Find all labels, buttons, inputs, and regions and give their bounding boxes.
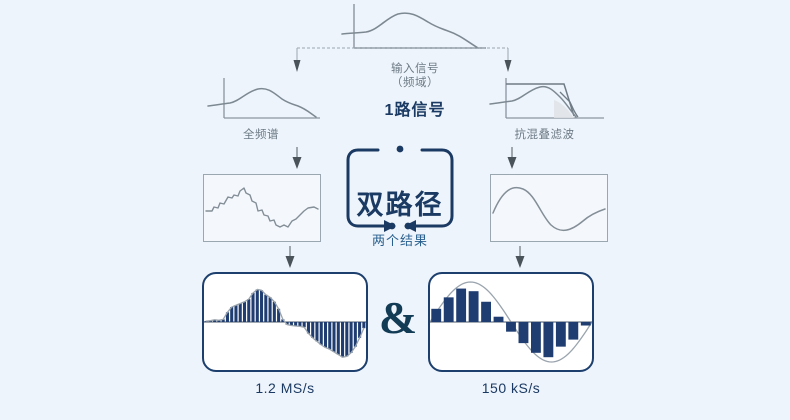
arrow-right-to-panel (512, 246, 528, 270)
sample-bar (328, 322, 331, 349)
sample-bar (568, 322, 578, 340)
sample-bar (494, 317, 504, 322)
dual-path-title: 双路径 (357, 183, 444, 222)
sample-bar (556, 322, 566, 347)
dual-path-subtitle: 两个结果 (340, 230, 460, 249)
sample-bar (269, 297, 272, 322)
sample-bar (350, 322, 353, 353)
sample-bar (251, 293, 254, 322)
sample-bar (481, 302, 491, 322)
sample-bar (456, 289, 466, 322)
sample-bar (506, 322, 516, 332)
sample-bar (341, 322, 344, 357)
sample-bar (332, 322, 335, 352)
sample-bar (234, 305, 237, 322)
sample-bar (469, 291, 479, 322)
sample-bar (256, 289, 259, 322)
sine-waveform-box (490, 174, 608, 242)
right-branch-caption: 抗混叠滤波 (482, 128, 607, 142)
sample-bar (315, 322, 318, 341)
source-caption: 输入信号 （频域） (335, 62, 495, 90)
arrow-right-to-result (504, 147, 520, 171)
dense-envelope (206, 289, 364, 357)
sample-bar (444, 297, 454, 322)
sample-bar (320, 322, 323, 345)
conjunction-ampersand: & (374, 295, 422, 341)
dense-sampling-panel (202, 272, 368, 372)
left-branch-caption: 全频谱 (200, 128, 322, 142)
sample-bar (362, 322, 365, 328)
sample-bar (531, 322, 541, 353)
sample-bar (243, 302, 246, 322)
dense-sampling-rate: 1.2 MS/s (202, 380, 368, 396)
sample-bar (311, 322, 314, 338)
dense-bars (205, 289, 366, 357)
sample-bar (431, 309, 441, 322)
sample-bar (239, 304, 242, 322)
coarse-sampling-rate: 150 kS/s (428, 380, 594, 396)
sample-bar (264, 295, 267, 322)
sample-bar (324, 322, 327, 348)
antialias-filter-chart (482, 76, 607, 126)
sample-bar (519, 322, 529, 343)
full-spectrum-chart (200, 76, 322, 126)
arrow-left-to-panel (282, 246, 298, 270)
sample-bar (337, 322, 340, 355)
sample-bar (260, 290, 263, 322)
coarse-bars (431, 289, 590, 358)
sample-bar (273, 302, 276, 322)
diagram-canvas: 输入信号 （频域） 1路信号 全频谱 抗混叠滤波 (0, 0, 790, 420)
sample-bar (543, 322, 553, 357)
sample-bar (345, 322, 348, 356)
sample-bar (247, 299, 250, 322)
source-sublabel: 1路信号 (335, 96, 495, 120)
noisy-waveform-box (203, 174, 321, 242)
arrow-left-to-result (289, 147, 305, 171)
coarse-sampling-panel (428, 272, 594, 372)
sample-bar (581, 322, 591, 326)
